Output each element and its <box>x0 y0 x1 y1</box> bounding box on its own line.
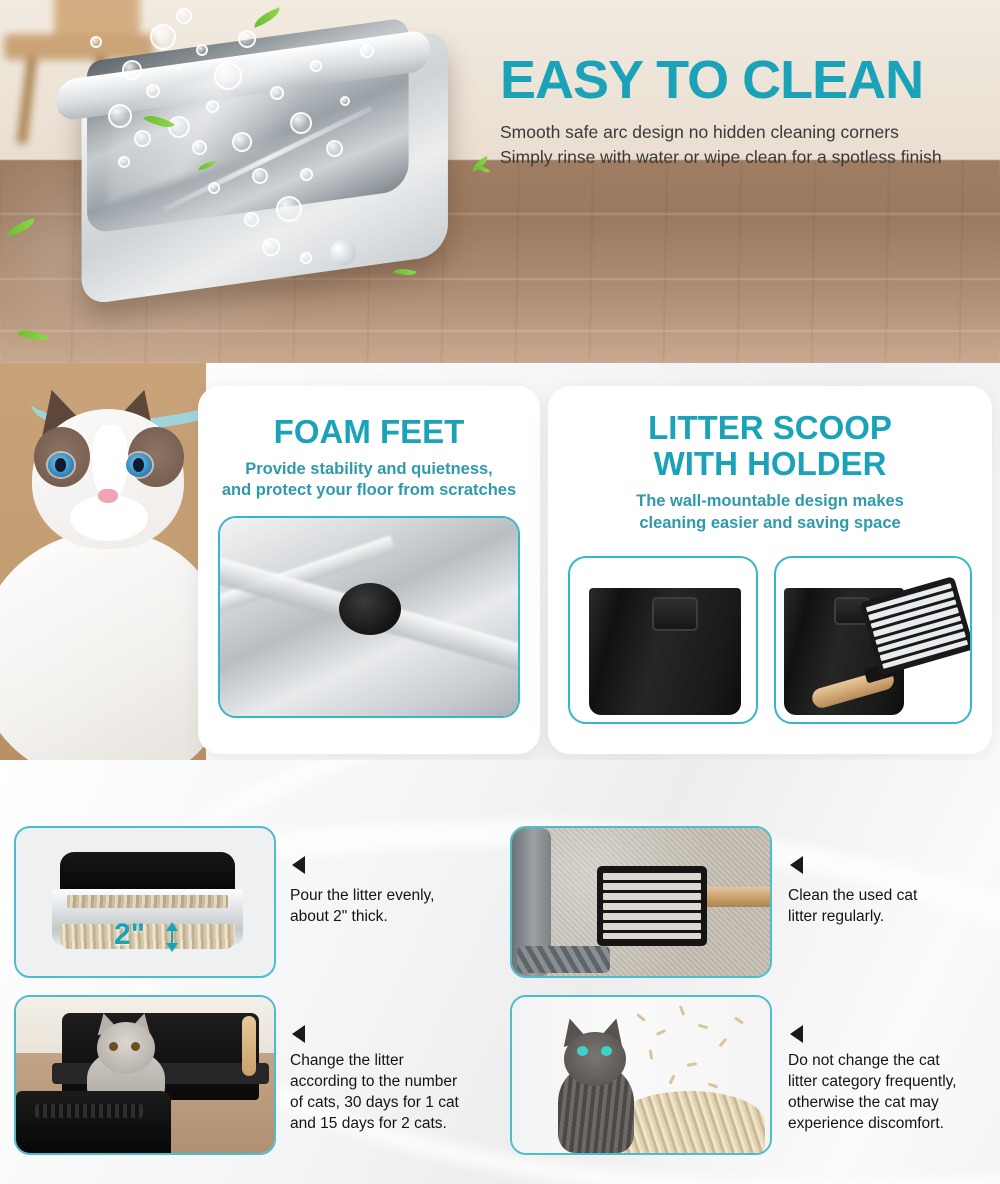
step-1-line-1: Pour the litter evenly, <box>290 885 490 906</box>
hero-section: EASY TO CLEAN Smooth safe arc design no … <box>0 0 1000 363</box>
scoop-subtitle-line-2: cleaning easier and saving space <box>548 513 992 534</box>
step-4-line-1: Do not change the cat <box>788 1050 1000 1071</box>
scoop-title-line-1: LITTER SCOOP <box>548 410 992 446</box>
foam-feet-title: FOAM FEET <box>198 414 540 450</box>
ragdoll-cat-photo <box>0 363 206 760</box>
scoop-title-line-2: WITH HOLDER <box>548 446 992 482</box>
hero-copy-block: EASY TO CLEAN Smooth safe arc design no … <box>500 52 992 170</box>
feature-card-foam-feet: FOAM FEET Provide stability and quietnes… <box>198 386 540 754</box>
usage-steps-section: 2" Pour the litter evenly, about 2" thic… <box>0 760 1000 1184</box>
feature-card-litter-scoop: LITTER SCOOP WITH HOLDER The wall-mounta… <box>548 386 992 754</box>
step-4-text: Do not change the cat litter category fr… <box>788 1050 1000 1134</box>
foam-feet-subtitle-line-1: Provide stability and quietness, <box>198 459 540 480</box>
step-1-text: Pour the litter evenly, about 2" thick. <box>290 885 490 927</box>
step-3-text: Change the litter according to the numbe… <box>290 1050 500 1134</box>
step-4-photo <box>510 995 772 1155</box>
step-2-line-1: Clean the used cat <box>788 885 993 906</box>
step-2-photo <box>510 826 772 978</box>
depth-arrow-icon <box>163 922 175 952</box>
hero-subtitle: Smooth safe arc design no hidden cleanin… <box>500 120 992 170</box>
used-litter-scoop <box>597 866 707 946</box>
tabby-cat <box>548 1009 644 1149</box>
hero-subtitle-line-2: Simply rinse with water or wipe clean fo… <box>500 145 992 170</box>
step-1-marker-icon <box>292 856 305 874</box>
step-3-line-1: Change the litter <box>290 1050 500 1071</box>
scoop-holder-photo <box>568 556 758 724</box>
step-3-photo <box>14 995 276 1155</box>
scoop-subtitle-line-1: The wall-mountable design makes <box>548 491 992 512</box>
step-1-line-2: about 2" thick. <box>290 906 490 927</box>
step-3-line-3: of cats, 30 days for 1 cat <box>290 1092 500 1113</box>
step-2-text: Clean the used cat litter regularly. <box>788 885 993 927</box>
infographic-page: EASY TO CLEAN Smooth safe arc design no … <box>0 0 1000 1184</box>
page-title: EASY TO CLEAN <box>500 52 992 108</box>
hero-subtitle-line-1: Smooth safe arc design no hidden cleanin… <box>500 120 992 145</box>
step-2-marker-icon <box>790 856 803 874</box>
wood-handle-accent <box>242 1016 256 1076</box>
step-1-photo: 2" <box>14 826 276 978</box>
step-2-line-2: litter regularly. <box>788 906 993 927</box>
step-3-marker-icon <box>292 1025 305 1043</box>
step-4-marker-icon <box>790 1025 803 1043</box>
foam-feet-photo <box>218 516 520 718</box>
step-4-line-4: experience discomfort. <box>788 1113 1000 1134</box>
step-3-line-4: and 15 days for 2 cats. <box>290 1113 500 1134</box>
step-4-line-3: otherwise the cat may <box>788 1092 1000 1113</box>
foam-feet-subtitle-line-2: and protect your floor from scratches <box>198 480 540 501</box>
step-4-line-2: litter category frequently, <box>788 1071 1000 1092</box>
step-3-line-2: according to the number <box>290 1071 500 1092</box>
litter-depth-label: 2" <box>114 918 145 952</box>
scoop-in-holder-photo <box>774 556 972 724</box>
